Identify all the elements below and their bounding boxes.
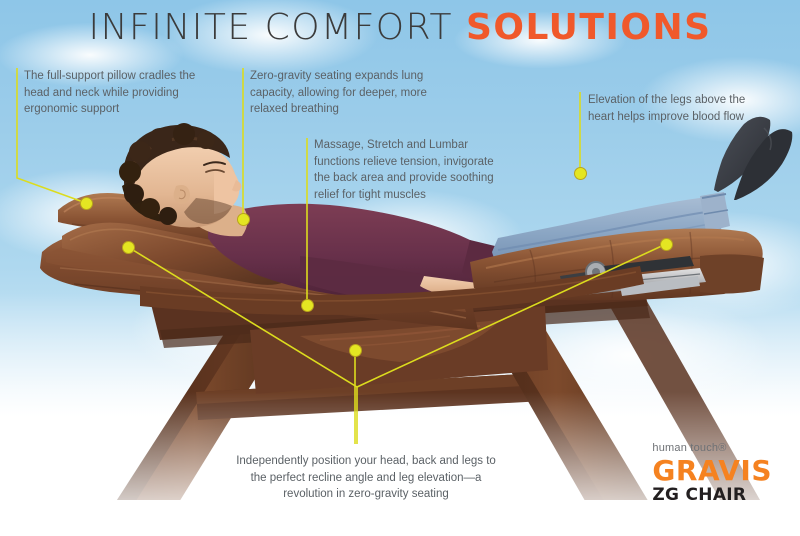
page-title-light: INFINITE COMFORT <box>88 7 466 48</box>
logo-brand-name: human touch® <box>652 443 772 454</box>
callout-massage: Massage, Stretch and Lumbar functions re… <box>314 137 494 203</box>
callout-leg-elevation: Elevation of the legs above the heart he… <box>588 92 748 125</box>
logo-model-name: ZG CHAIR <box>652 487 772 504</box>
page-title-bold: SOLUTIONS <box>466 7 712 48</box>
brand-logo: human touch® GRAVIS ZG CHAIR <box>652 443 772 504</box>
hotspot-dot-leg-elevation[interactable] <box>574 167 587 180</box>
page-title: INFINITE COMFORT SOLUTIONS <box>0 6 800 48</box>
hotspot-dot-footrest[interactable] <box>660 238 673 251</box>
hotspot-dot-pillow[interactable] <box>80 197 93 210</box>
logo-product-name: GRAVIS <box>652 457 772 485</box>
hotspot-dot-independent[interactable] <box>349 344 362 357</box>
callout-independent-position: Independently position your head, back a… <box>232 453 500 503</box>
hotspot-dot-zero-gravity[interactable] <box>237 213 250 226</box>
infographic-canvas: INFINITE COMFORT SOLUTIONS The full-supp… <box>0 0 800 536</box>
hotspot-dot-massage[interactable] <box>301 299 314 312</box>
callout-zero-gravity: Zero-gravity seating expands lung capaci… <box>250 68 435 118</box>
callout-pillow: The full-support pillow cradles the head… <box>24 68 209 118</box>
hotspot-dot-lumbar-recline[interactable] <box>122 241 135 254</box>
